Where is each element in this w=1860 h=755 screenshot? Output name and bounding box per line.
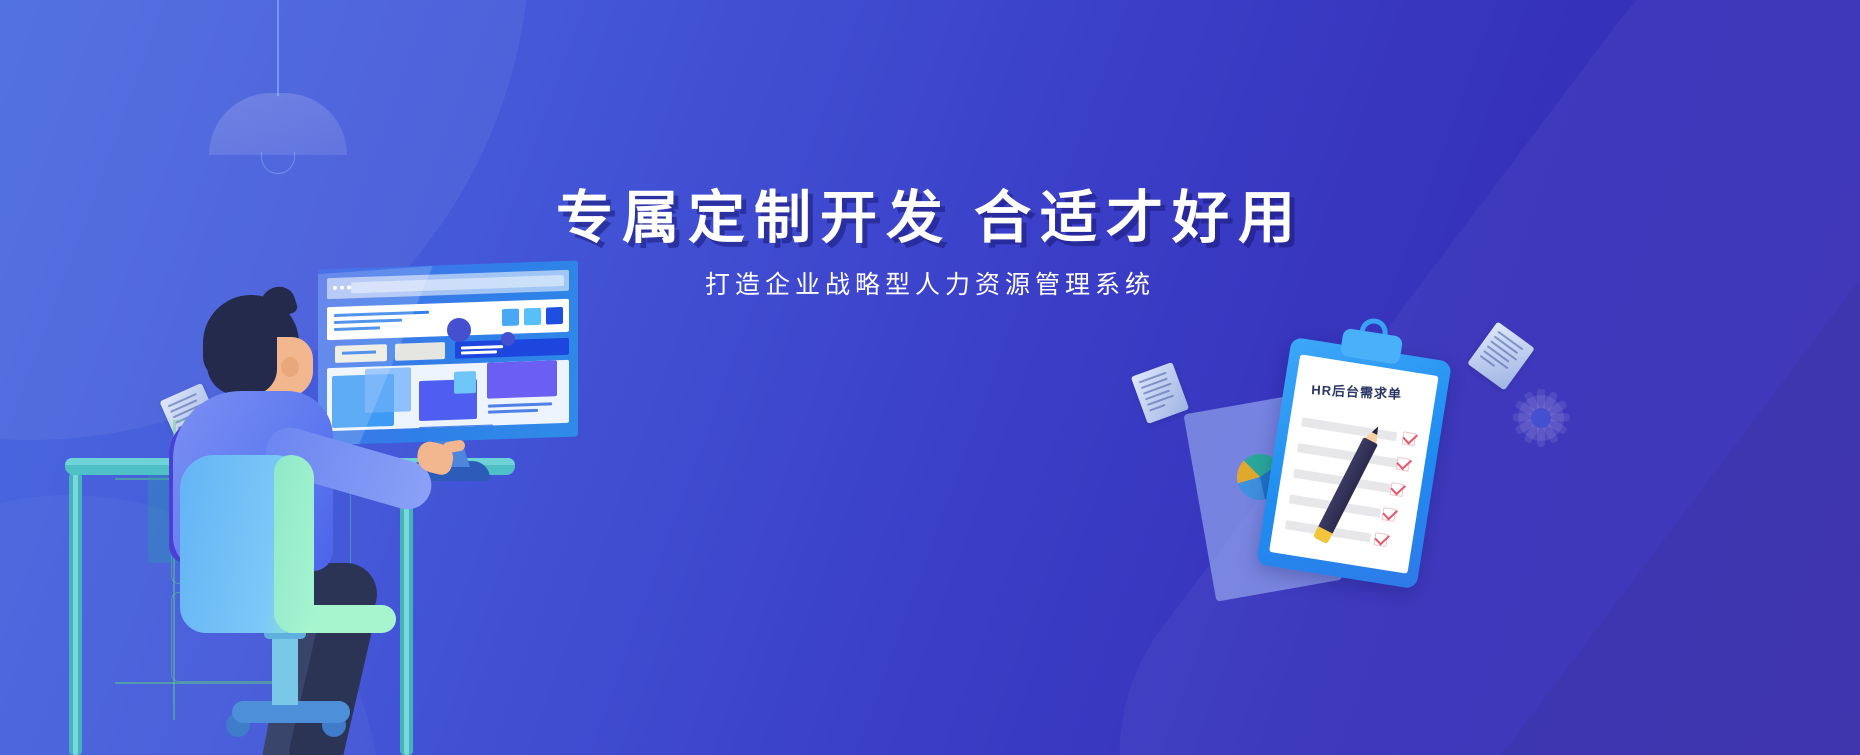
pendant-lamp [209,0,347,175]
checklist-line [1297,443,1399,468]
clipboard-paper: HR后台需求单 [1269,354,1439,573]
chair-post [272,631,298,705]
clipboard-clip [1340,328,1404,365]
lamp-cord [277,0,279,96]
hr-requirement-clipboard-illustration: HR后台需求单 [1185,320,1505,620]
hero-banner: HR后台需求单 专属定制开发合适才好用 [0,0,1860,755]
checkbox-checked[interactable] [1402,431,1417,446]
lamp-bulb [261,152,295,174]
hair-front [207,325,277,395]
checkbox-checked[interactable] [1381,507,1396,522]
headline-block: 专属定制开发合适才好用 打造企业战略型人力资源管理系统 [0,190,1860,298]
headline-part-2: 合适才好用 [974,186,1304,250]
clipboard: HR后台需求单 [1256,337,1452,590]
developer-at-desk-illustration [60,255,700,755]
checkbox-checked[interactable] [1389,482,1404,497]
headline-part-1: 专属定制开发 [556,186,952,250]
lamp-shade [209,93,347,155]
checkbox-checked[interactable] [1395,457,1410,472]
banner-subtitle: 打造企业战略型人力资源管理系统 [0,273,1860,298]
paper-scrap-center-icon [1131,362,1189,424]
clipboard-title: HR后台需求单 [1311,379,1403,403]
ear [281,357,299,377]
office-chair [180,455,390,755]
gear-right-icon [1518,395,1564,441]
chair-backrest-edge [274,455,314,633]
desk-leg-left-highlight [73,473,78,755]
banner-headline: 专属定制开发合适才好用 [0,190,1860,247]
checkbox-checked[interactable] [1373,532,1388,547]
